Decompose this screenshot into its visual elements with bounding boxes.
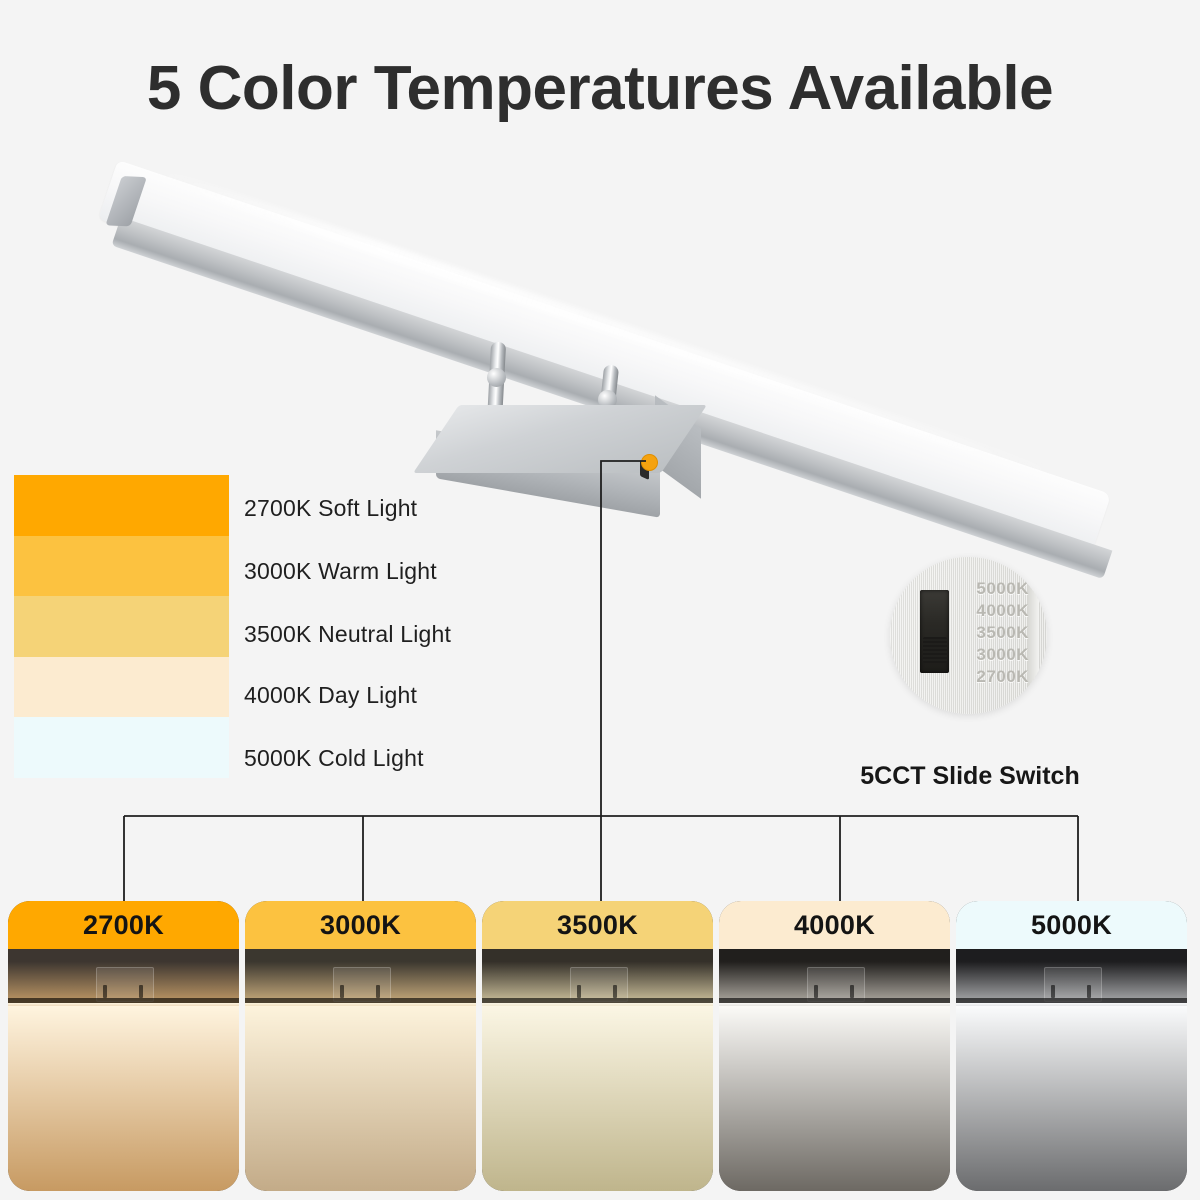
swatch-stack [14,475,229,778]
card-photo-4000k [719,949,950,1191]
card-header-5000k: 5000K [956,901,1187,949]
card-header-4000k: 4000K [719,901,950,949]
legend-label-5000k: 5000K Cold Light [244,745,424,772]
lamp-arm-silhouette-right [850,985,854,998]
engraved-label-3500k: 3500K [976,623,1029,643]
card-3000k[interactable]: 3000K [245,901,476,1191]
lamp-arm-silhouette-right [139,985,143,998]
engraved-label-5000k: 5000K [976,579,1029,599]
temperature-comparison-cards: 2700K 3000K [8,901,1192,1191]
engraved-label-3000k: 3000K [976,645,1029,665]
swatch-3500k [14,596,229,657]
swatch-2700k [14,475,229,536]
swatch-3000k [14,536,229,597]
card-photo-3000k [245,949,476,1191]
arm-joint-left [487,368,506,387]
photo-wall-lower [956,1006,1187,1191]
card-photo-3500k [482,949,713,1191]
page-title: 5 Color Temperatures Available [0,58,1200,120]
lamp-arm-silhouette-right [613,985,617,998]
card-5000k[interactable]: 5000K [956,901,1187,1191]
photo-wall-lower [719,1006,950,1191]
card-photo-5000k [956,949,1187,1191]
card-header-3000k: 3000K [245,901,476,949]
card-2700k[interactable]: 2700K [8,901,239,1191]
legend-label-2700k: 2700K Soft Light [244,495,417,522]
lamp-arm-silhouette-right [1087,985,1091,998]
legend-label-4000k: 4000K Day Light [244,682,417,709]
slide-switch-caption: 5CCT Slide Switch [830,762,1110,791]
lamp-arm-silhouette-left [577,985,581,998]
color-temperature-legend: 2700K Soft Light 3000K Warm Light 3500K … [14,475,474,780]
engraved-label-2700k: 2700K [976,667,1029,687]
switch-slider-knob[interactable] [923,637,947,663]
card-header-2700k: 2700K [8,901,239,949]
swatch-5000k [14,717,229,778]
swatch-4000k [14,657,229,718]
photo-wall-lower [245,1006,476,1191]
lamp-arm-silhouette-right [376,985,380,998]
card-header-3500k: 3500K [482,901,713,949]
legend-label-3500k: 3500K Neutral Light [244,621,451,648]
engraved-label-4000k: 4000K [976,601,1029,621]
lamp-arm-silhouette-left [1051,985,1055,998]
card-4000k[interactable]: 4000K [719,901,950,1191]
photo-wall-lower [8,1006,239,1191]
lamp-arm-silhouette-left [103,985,107,998]
legend-label-3000k: 3000K Warm Light [244,558,437,585]
photo-wall-lower [482,1006,713,1191]
card-photo-2700k [8,949,239,1191]
infographic-page: 5 Color Temperatures Available [0,0,1200,1200]
lamp-arm-silhouette-left [340,985,344,998]
lamp-arm-silhouette-left [814,985,818,998]
mount-base-top [413,405,707,473]
card-3500k[interactable]: 3500K [482,901,713,1191]
callout-marker-dot [641,454,658,471]
slide-switch-magnifier: 5000K 4000K 3500K 3000K 2700K [890,557,1047,714]
